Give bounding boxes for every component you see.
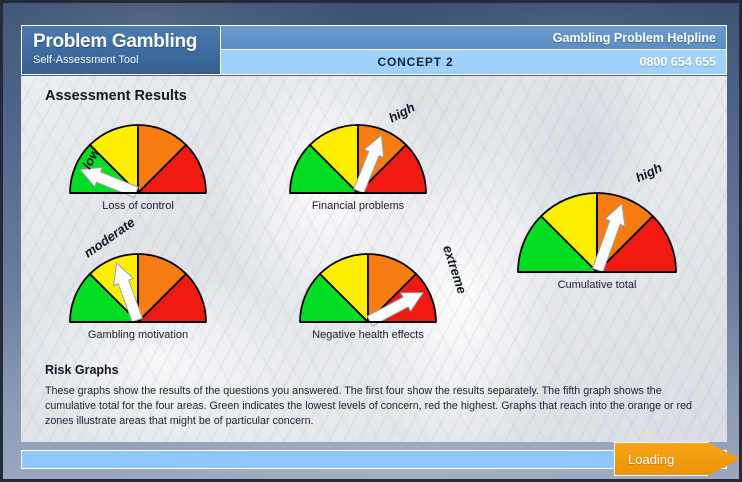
gauge-dial — [512, 187, 682, 278]
gauge-caption-gambling-motivation: Gambling motivation — [64, 329, 212, 341]
helpline-label: Gambling Problem Helpline — [553, 31, 716, 45]
concept-label: CONCEPT 2 — [163, 55, 668, 69]
page-title: Problem Gambling — [33, 30, 220, 53]
content-panel: Assessment Results Loss of controlFinanc… — [21, 76, 727, 442]
gauge-caption-financial-problems: Financial problems — [284, 200, 432, 212]
gauge-caption-loss-of-control: Loss of control — [64, 200, 212, 212]
gauge-needle-label-negative-health-effects: extreme — [440, 243, 470, 295]
helpline-row: Gambling Problem Helpline — [221, 26, 726, 50]
gauge-caption-cumulative-total: Cumulative total — [512, 279, 682, 291]
concept-row: CONCEPT 2 0800 654 655 — [221, 50, 726, 74]
gauge-dial — [294, 248, 442, 328]
gauge-dial — [284, 119, 432, 199]
risk-graphs-heading: Risk Graphs — [45, 363, 119, 377]
loading-button[interactable]: Loading — [614, 442, 740, 476]
gauge-gambling-motivation: Gambling motivation — [64, 248, 212, 341]
gauge-cumulative-total: Cumulative total — [512, 187, 682, 291]
gauge-dial — [64, 248, 212, 328]
loading-button-label: Loading — [628, 442, 674, 476]
header-right-panel: Gambling Problem Helpline CONCEPT 2 0800… — [221, 25, 727, 75]
gauge-negative-health-effects: Negative health effects — [294, 248, 442, 341]
header: Problem Gambling Self-Assessment Tool Ga… — [21, 25, 727, 75]
assessment-results-heading: Assessment Results — [45, 88, 187, 104]
risk-graphs-description: These graphs show the results of the que… — [45, 384, 693, 429]
application-window: Problem Gambling Self-Assessment Tool Ga… — [0, 0, 742, 482]
gauge-needle-label-cumulative-total: high — [633, 160, 664, 186]
gauge-financial-problems: Financial problems — [284, 119, 432, 212]
gauge-caption-negative-health-effects: Negative health effects — [294, 329, 442, 341]
